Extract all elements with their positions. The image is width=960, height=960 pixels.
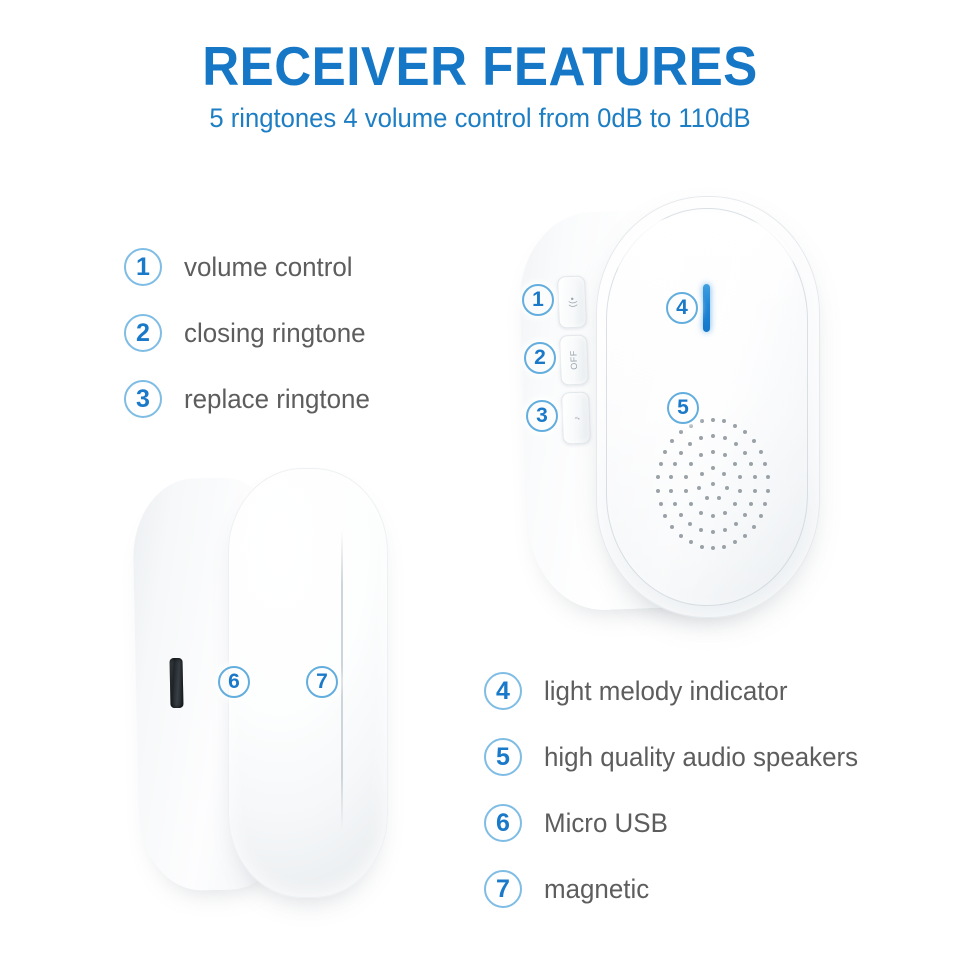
list-item: 2 closing ringtone bbox=[124, 300, 378, 366]
speaker-dot bbox=[753, 489, 757, 493]
speaker-dot bbox=[688, 442, 692, 446]
header: RECEIVER FEATURES 5 ringtones 4 volume c… bbox=[0, 38, 960, 134]
feature-label: high quality audio speakers bbox=[544, 742, 858, 773]
speaker-dot bbox=[659, 502, 663, 506]
speaker-dot bbox=[711, 530, 715, 534]
callout-badge-2: 2 bbox=[124, 314, 162, 352]
micro-usb-port bbox=[169, 658, 183, 708]
list-item: 7 magnetic bbox=[484, 856, 871, 922]
callout-badge-4: 4 bbox=[484, 672, 522, 710]
speaker-dot bbox=[663, 514, 667, 518]
speaker-dot bbox=[700, 419, 704, 423]
receiver-callout-1: 1 bbox=[522, 284, 554, 316]
led-indicator bbox=[703, 284, 710, 332]
speaker-dot bbox=[749, 462, 753, 466]
speaker-dot bbox=[679, 513, 683, 517]
speaker-dot bbox=[738, 489, 742, 493]
speaker-dot bbox=[733, 502, 737, 506]
speaker-dot bbox=[752, 439, 756, 443]
speaker-dot bbox=[722, 472, 726, 476]
speaker-dot bbox=[670, 439, 674, 443]
speaker-dot bbox=[711, 482, 715, 486]
speaker-dot bbox=[688, 522, 692, 526]
speaker-dot bbox=[656, 475, 660, 479]
receiver-callout-3: 3 bbox=[526, 400, 558, 432]
callout-badge-6: 6 bbox=[484, 804, 522, 842]
speaker-dot bbox=[700, 472, 704, 476]
speaker-dot bbox=[711, 450, 715, 454]
speaker-dot bbox=[659, 462, 663, 466]
speaker-icon: ((• bbox=[567, 296, 577, 307]
page-title: RECEIVER FEATURES bbox=[34, 38, 927, 94]
speaker-dot bbox=[733, 540, 737, 544]
speaker-dot bbox=[743, 451, 747, 455]
speaker-dot bbox=[711, 546, 715, 550]
speaker-dot bbox=[725, 486, 729, 490]
music-note-icon: ♪ bbox=[571, 415, 581, 420]
speaker-dot bbox=[743, 430, 747, 434]
speaker-dot bbox=[684, 489, 688, 493]
off-switch[interactable]: OFF bbox=[559, 334, 589, 385]
speaker-dot bbox=[722, 419, 726, 423]
receiver-callout-4: 4 bbox=[666, 292, 698, 324]
speaker-dot bbox=[717, 496, 721, 500]
speaker-dot bbox=[733, 424, 737, 428]
speaker-dot bbox=[763, 462, 767, 466]
speaker-dot bbox=[679, 430, 683, 434]
feature-label: volume control bbox=[184, 252, 353, 283]
speaker-dot bbox=[689, 424, 693, 428]
speaker-dot bbox=[723, 453, 727, 457]
speaker-dot bbox=[759, 450, 763, 454]
list-item: 4 light melody indicator bbox=[484, 658, 871, 724]
callout-badge-1: 1 bbox=[124, 248, 162, 286]
transmitter-callout-7: 7 bbox=[306, 666, 338, 698]
off-label: OFF bbox=[569, 350, 580, 370]
speaker-dot bbox=[711, 418, 715, 422]
speaker-dot bbox=[722, 545, 726, 549]
transmitter-seam-line bbox=[341, 530, 343, 830]
speaker-dot bbox=[656, 489, 660, 493]
feature-label: closing ringtone bbox=[184, 318, 366, 349]
speaker-dot bbox=[734, 522, 738, 526]
speaker-dot bbox=[766, 489, 770, 493]
speaker-dot bbox=[699, 436, 703, 440]
speaker-dot bbox=[705, 496, 709, 500]
ringtone-button[interactable]: ♪ bbox=[561, 391, 591, 444]
speaker-dot bbox=[743, 513, 747, 517]
speaker-dot bbox=[679, 451, 683, 455]
speaker-dot bbox=[673, 502, 677, 506]
list-item: 3 replace ringtone bbox=[124, 366, 378, 432]
speaker-dot bbox=[723, 436, 727, 440]
speaker-dot bbox=[689, 502, 693, 506]
receiver-callout-2: 2 bbox=[524, 342, 556, 374]
speaker-grille bbox=[652, 414, 774, 554]
transmitter-device-image: 6 7 bbox=[136, 468, 386, 900]
speaker-dot bbox=[669, 489, 673, 493]
speaker-dot bbox=[670, 525, 674, 529]
speaker-dot bbox=[733, 462, 737, 466]
receiver-device-image: ((• OFF ♪ 1 2 3 4 5 bbox=[518, 196, 818, 620]
feature-label: magnetic bbox=[544, 874, 649, 905]
speaker-dot bbox=[743, 534, 747, 538]
feature-label: replace ringtone bbox=[184, 384, 370, 415]
receiver-callout-5: 5 bbox=[667, 392, 699, 424]
page-subtitle: 5 ringtones 4 volume control from 0dB to… bbox=[24, 103, 936, 134]
speaker-dot bbox=[723, 528, 727, 532]
speaker-dot bbox=[669, 475, 673, 479]
speaker-dot bbox=[711, 514, 715, 518]
speaker-dot bbox=[738, 475, 742, 479]
speaker-dot bbox=[711, 466, 715, 470]
speaker-dot bbox=[689, 462, 693, 466]
speaker-dot bbox=[697, 486, 701, 490]
feature-list-right: 4 light melody indicator 5 high quality … bbox=[484, 658, 871, 922]
list-item: 1 volume control bbox=[124, 234, 378, 300]
feature-list-left: 1 volume control 2 closing ringtone 3 re… bbox=[124, 234, 378, 432]
callout-badge-3: 3 bbox=[124, 380, 162, 418]
speaker-dot bbox=[699, 511, 703, 515]
speaker-dot bbox=[752, 525, 756, 529]
infographic-page: RECEIVER FEATURES 5 ringtones 4 volume c… bbox=[0, 0, 960, 960]
speaker-dot bbox=[689, 540, 693, 544]
feature-label: light melody indicator bbox=[544, 676, 787, 707]
speaker-dot bbox=[749, 502, 753, 506]
speaker-dot bbox=[673, 462, 677, 466]
speaker-dot bbox=[699, 453, 703, 457]
list-item: 6 Micro USB bbox=[484, 790, 871, 856]
speaker-dot bbox=[753, 475, 757, 479]
callout-badge-5: 5 bbox=[484, 738, 522, 776]
speaker-dot bbox=[763, 502, 767, 506]
feature-label: Micro USB bbox=[544, 808, 668, 839]
speaker-dot bbox=[679, 534, 683, 538]
volume-control-button[interactable]: ((• bbox=[557, 275, 587, 328]
speaker-dot bbox=[699, 528, 703, 532]
speaker-dot bbox=[684, 475, 688, 479]
list-item: 5 high quality audio speakers bbox=[484, 724, 871, 790]
speaker-dot bbox=[759, 514, 763, 518]
speaker-dot bbox=[663, 450, 667, 454]
speaker-dot bbox=[711, 434, 715, 438]
transmitter-callout-6: 6 bbox=[218, 666, 250, 698]
receiver-faceplate bbox=[596, 196, 820, 618]
callout-badge-7: 7 bbox=[484, 870, 522, 908]
speaker-dot bbox=[723, 511, 727, 515]
speaker-dot bbox=[700, 545, 704, 549]
speaker-dot bbox=[766, 475, 770, 479]
speaker-dot bbox=[734, 442, 738, 446]
